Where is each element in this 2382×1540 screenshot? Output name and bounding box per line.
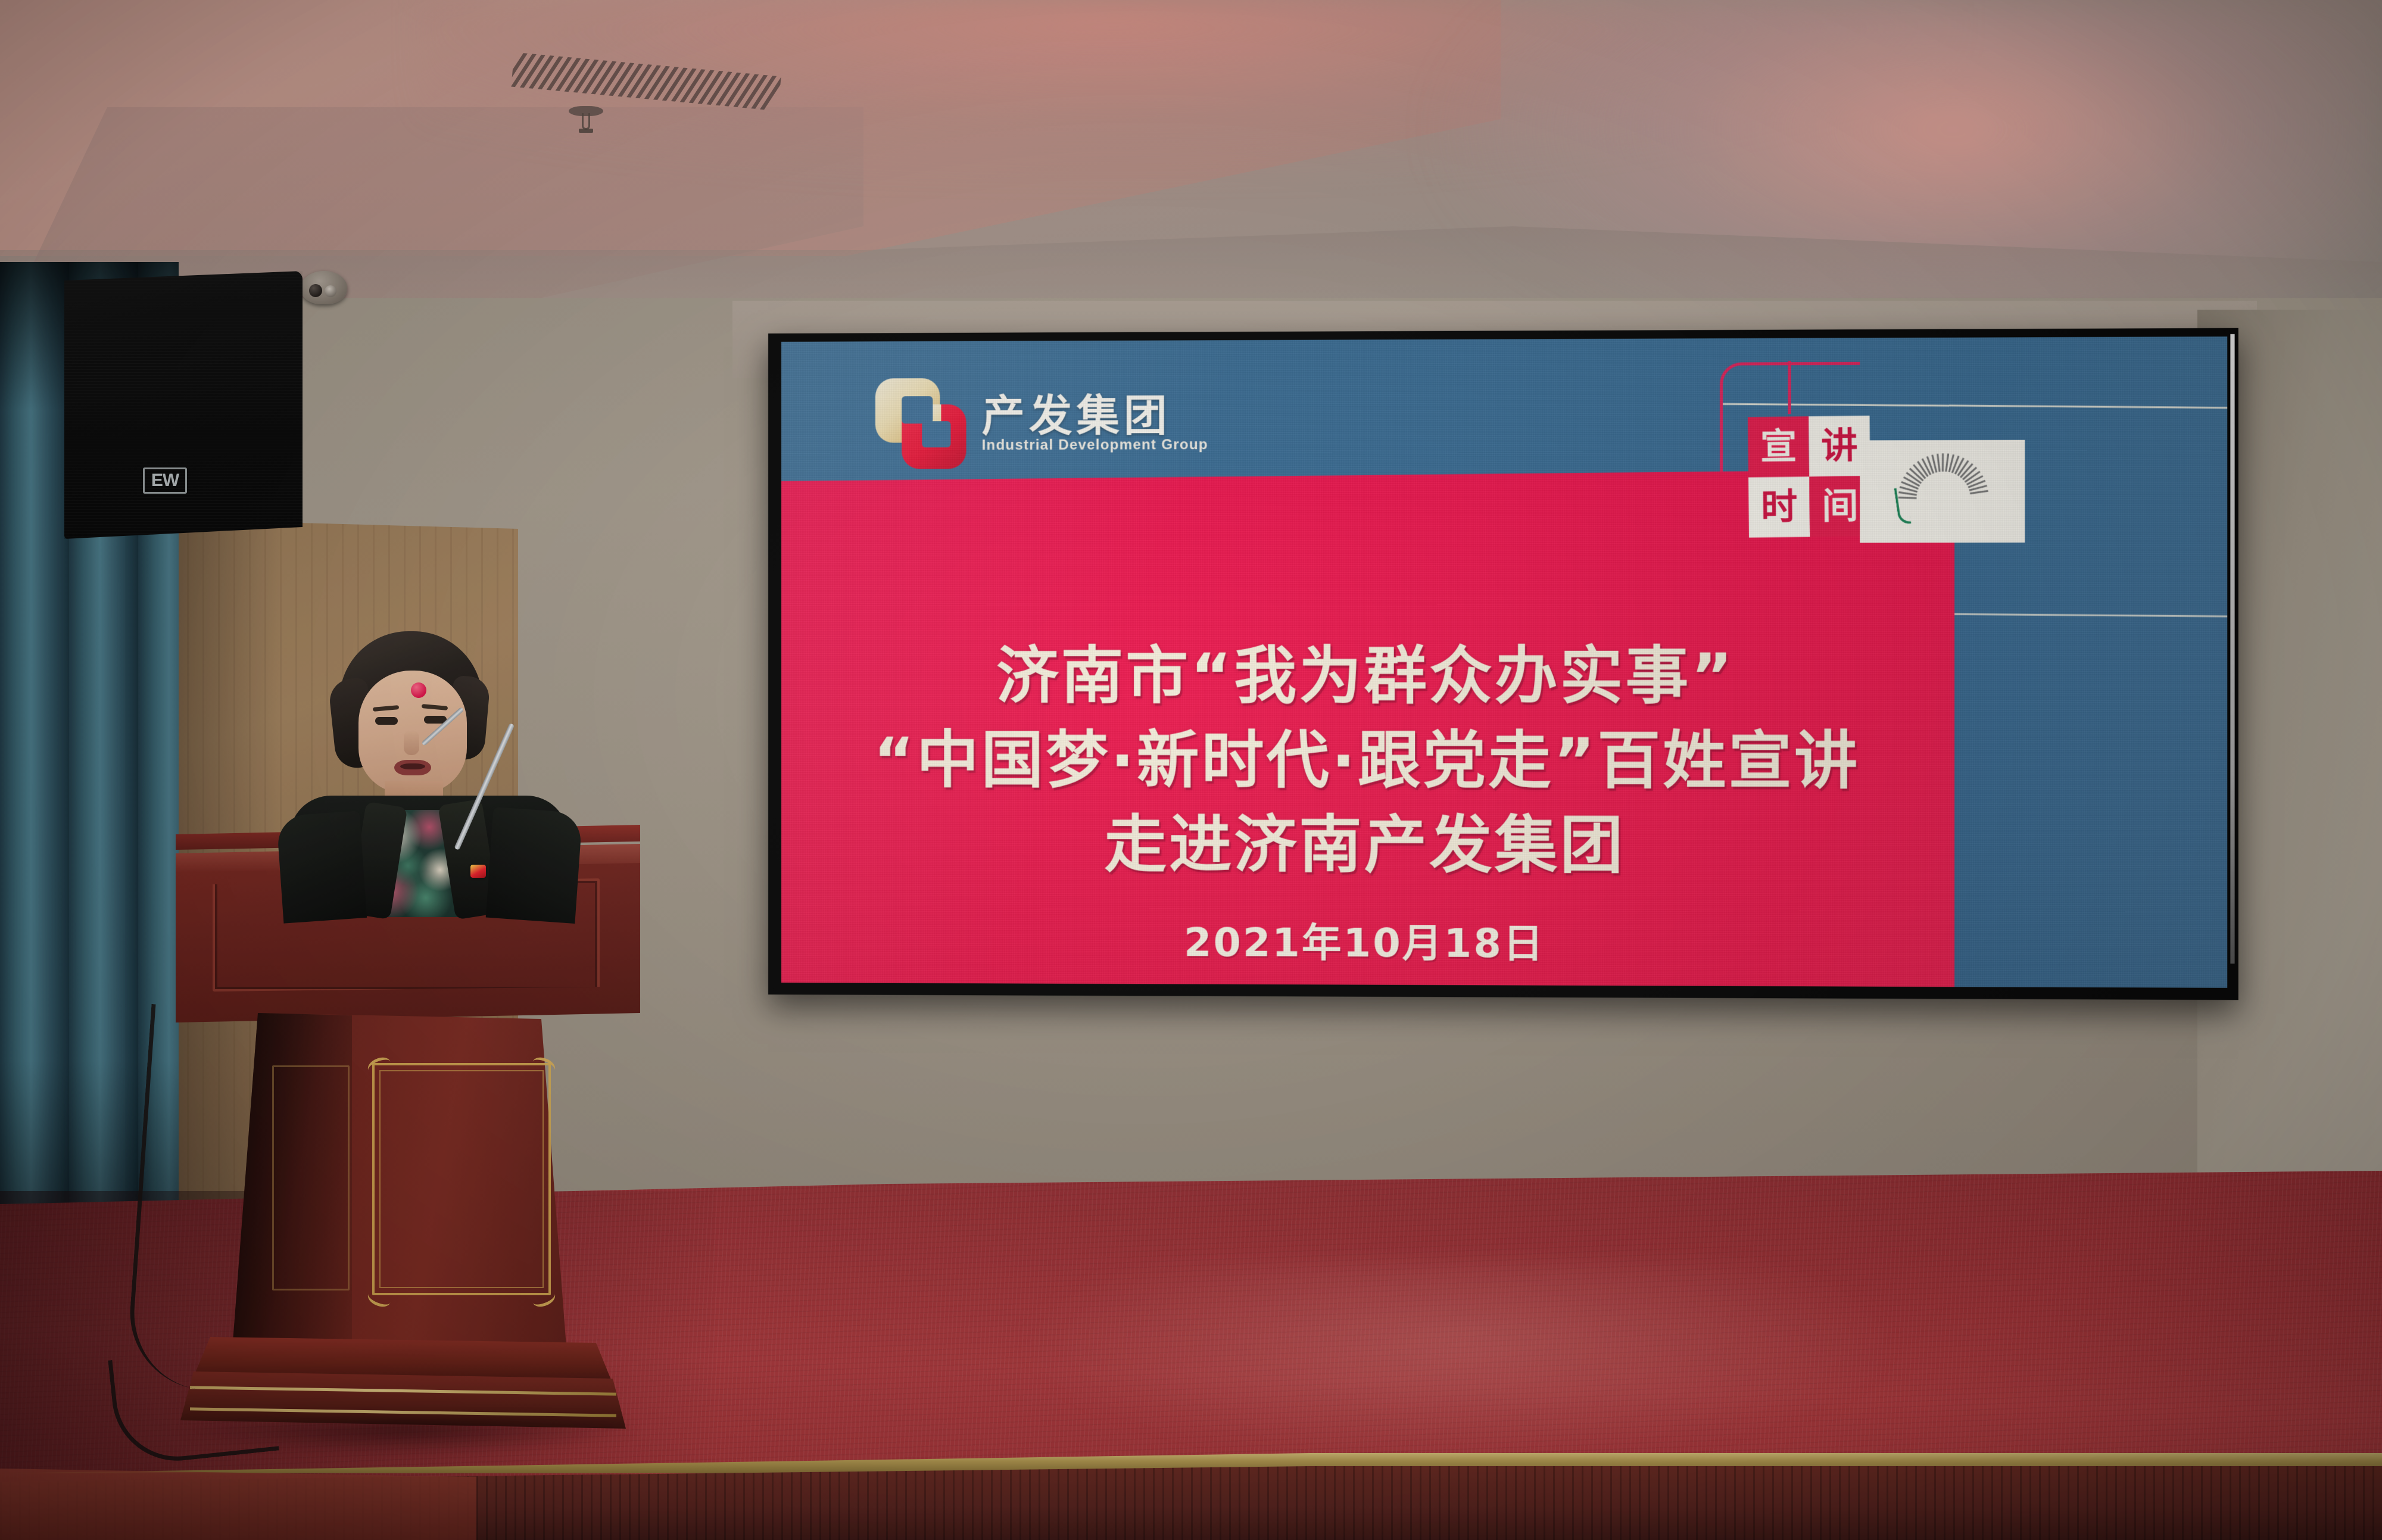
podium-gold-frame-inner <box>379 1070 544 1288</box>
emblem-burst-card <box>1860 440 2025 543</box>
screen-red-panel: 济南市“我为群众办实事” “中国梦·新时代·跟党走”百姓宣讲 走进济南产发集团 … <box>781 469 1954 988</box>
emblem-cell-3: 时 <box>1748 476 1810 537</box>
title-date: 2021年10月18日 <box>1184 911 1545 969</box>
sprinkler-base <box>579 129 593 133</box>
loudspeaker-brand-badge: EW <box>143 467 187 494</box>
emblem-cell-1: 宣 <box>1748 416 1809 477</box>
podium-side-gold-frame <box>272 1065 350 1290</box>
led-screen: 济南市“我为群众办实事” “中国梦·新时代·跟党走”百姓宣讲 走进济南产发集团 … <box>768 328 2238 1000</box>
overlapping-rounded-squares-logo-icon <box>875 378 966 469</box>
logo-name-en: Industrial Development Group <box>982 438 1208 453</box>
logo-notch-lower <box>922 421 950 447</box>
corporate-logo: 产发集团 Industrial Development Group <box>875 378 1208 469</box>
camera-lens-primary <box>309 284 322 297</box>
microphone-head <box>411 682 426 698</box>
decor-pink-tick <box>1788 361 1791 414</box>
person-nose <box>404 730 419 755</box>
radial-burst-graphic-icon <box>1897 451 1988 541</box>
title-line-2: “中国梦·新时代·跟党走”百姓宣讲 <box>874 722 1860 800</box>
screen-surface: 济南市“我为群众办实事” “中国梦·新时代·跟党走”百姓宣讲 走进济南产发集团 … <box>781 336 2227 988</box>
fire-sprinkler-icon <box>569 106 603 135</box>
title-line-1: 济南市“我为群众办实事” <box>996 638 1735 715</box>
person-jacket-arm-left <box>276 810 367 923</box>
screen-bezel: 济南市“我为群众办实事” “中国梦·新时代·跟党走”百姓宣讲 走进济南产发集团 … <box>768 328 2238 1000</box>
conference-hall-photo: EW 济南市“我为群众办实事” “中国梦·新时代·跟党走”百姓宣讲 走进济南 <box>0 0 2382 1540</box>
person-mouth-inner <box>400 763 425 769</box>
title-line-3: 走进济南产发集团 <box>1104 807 1625 884</box>
camera-lens-secondary <box>325 285 336 297</box>
sprinkler-stem <box>582 113 590 130</box>
camera-dome <box>301 271 347 304</box>
logo-notch-upper <box>902 396 933 423</box>
stage-light-sheen <box>1012 1262 1906 1465</box>
screen-title-block: 济南市“我为群众办实事” “中国梦·新时代·跟党走”百姓宣讲 走进济南产发集团 … <box>781 638 1954 970</box>
screen-edge-highlight <box>2230 334 2234 964</box>
logo-name-cn: 产发集团 <box>982 394 1208 437</box>
person-jacket-arm-right <box>486 807 583 924</box>
person-eye-left <box>375 717 398 725</box>
loudspeaker-grille <box>64 271 303 539</box>
speaker-person <box>268 631 649 893</box>
party-emblem-pin-icon <box>470 865 486 878</box>
dome-security-camera-icon <box>301 271 347 308</box>
logo-wordmark: 产发集团 Industrial Development Group <box>982 394 1208 453</box>
campaign-emblem: 宣 讲 时 间 <box>1748 416 1871 538</box>
wall-loudspeaker: EW <box>64 271 303 539</box>
